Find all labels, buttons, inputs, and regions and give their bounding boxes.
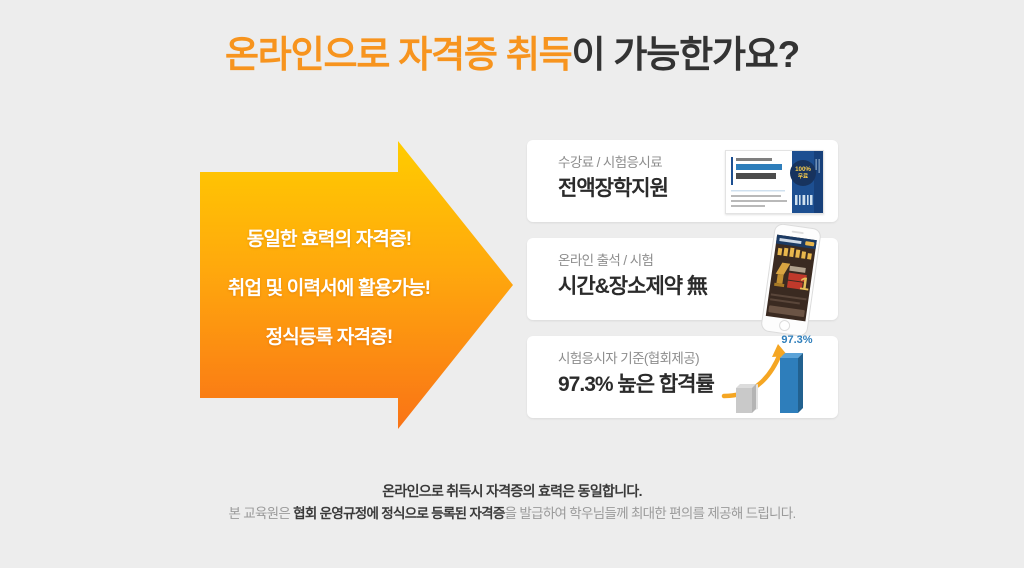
svg-text:무료: 무료 [798,172,808,180]
bar-chart-graphic-icon: 97.3% [718,326,828,421]
page-title-highlight: 온라인으로 자격증 취득 [225,34,572,75]
promo-banner: 온라인으로 자격증 취득이 가능한가요? 동일한 효력의 자격증! 취업 및 이… [0,0,1024,568]
card-pass-rate-text: 시험응시자 기준(협회제공) 97.3% 높은 합격률 [558,350,714,398]
benefits-arrow: 동일한 효력의 자격증! 취업 및 이력서에 활용가능! 정식등록 자격증! [195,136,520,436]
card-online-attendance[interactable]: 온라인 출석 / 시험 시간&장소제약 無 [527,238,838,320]
footer-line-2-strong: 협회 운영규정에 정식으로 등록된 자격증 [293,506,504,521]
card-online-attendance-title: 시간&장소제약 無 [558,274,707,300]
footer-line-2-post: 을 발급하여 학우님들께 최대한 편의를 제공해 드립니다. [505,506,796,521]
chart-value-label: 97.3% [781,334,812,346]
footer-line-2: 본 교육원은 협회 운영규정에 정식으로 등록된 자격증을 발급하여 학우님들께… [0,503,1024,525]
card-online-attendance-text: 온라인 출석 / 시험 시간&장소제약 無 [558,252,707,300]
footer-line-1: 온라인으로 취득시 자격증의 효력은 동일합니다. [0,481,1024,503]
card-scholarship-subtitle: 수강료 / 시험응시료 [558,154,668,172]
smartphone-image: 1 [756,224,826,336]
card-pass-rate-subtitle: 시험응시자 기준(협회제공) [558,350,714,368]
footer-note: 온라인으로 취득시 자격증의 효력은 동일합니다. 본 교육원은 협회 운영규정… [0,481,1024,525]
svg-text:100%: 100% [795,166,811,173]
card-scholarship-title: 전액장학지원 [558,176,668,202]
feature-card-list: 수강료 / 시험응시료 전액장학지원 100% [527,140,838,434]
coupon-image: 100% 무료 [725,150,824,214]
page-title: 온라인으로 자격증 취득이 가능한가요? [0,33,1024,77]
card-pass-rate-title: 97.3% 높은 합격률 [558,372,714,398]
bar-chart-image: 97.3% [718,326,828,421]
coupon-graphic-icon: 100% 무료 [726,151,823,213]
footer-line-2-pre: 본 교육원은 [228,506,293,521]
arrow-shape-icon [195,136,520,436]
card-scholarship[interactable]: 수강료 / 시험응시료 전액장학지원 100% [527,140,838,222]
smartphone-graphic-icon: 1 [756,224,826,336]
card-online-attendance-subtitle: 온라인 출석 / 시험 [558,252,707,270]
page-title-rest: 이 가능한가요? [572,34,800,75]
card-pass-rate[interactable]: 시험응시자 기준(협회제공) 97.3% 높은 합격률 [527,336,838,418]
card-scholarship-text: 수강료 / 시험응시료 전액장학지원 [558,154,668,202]
